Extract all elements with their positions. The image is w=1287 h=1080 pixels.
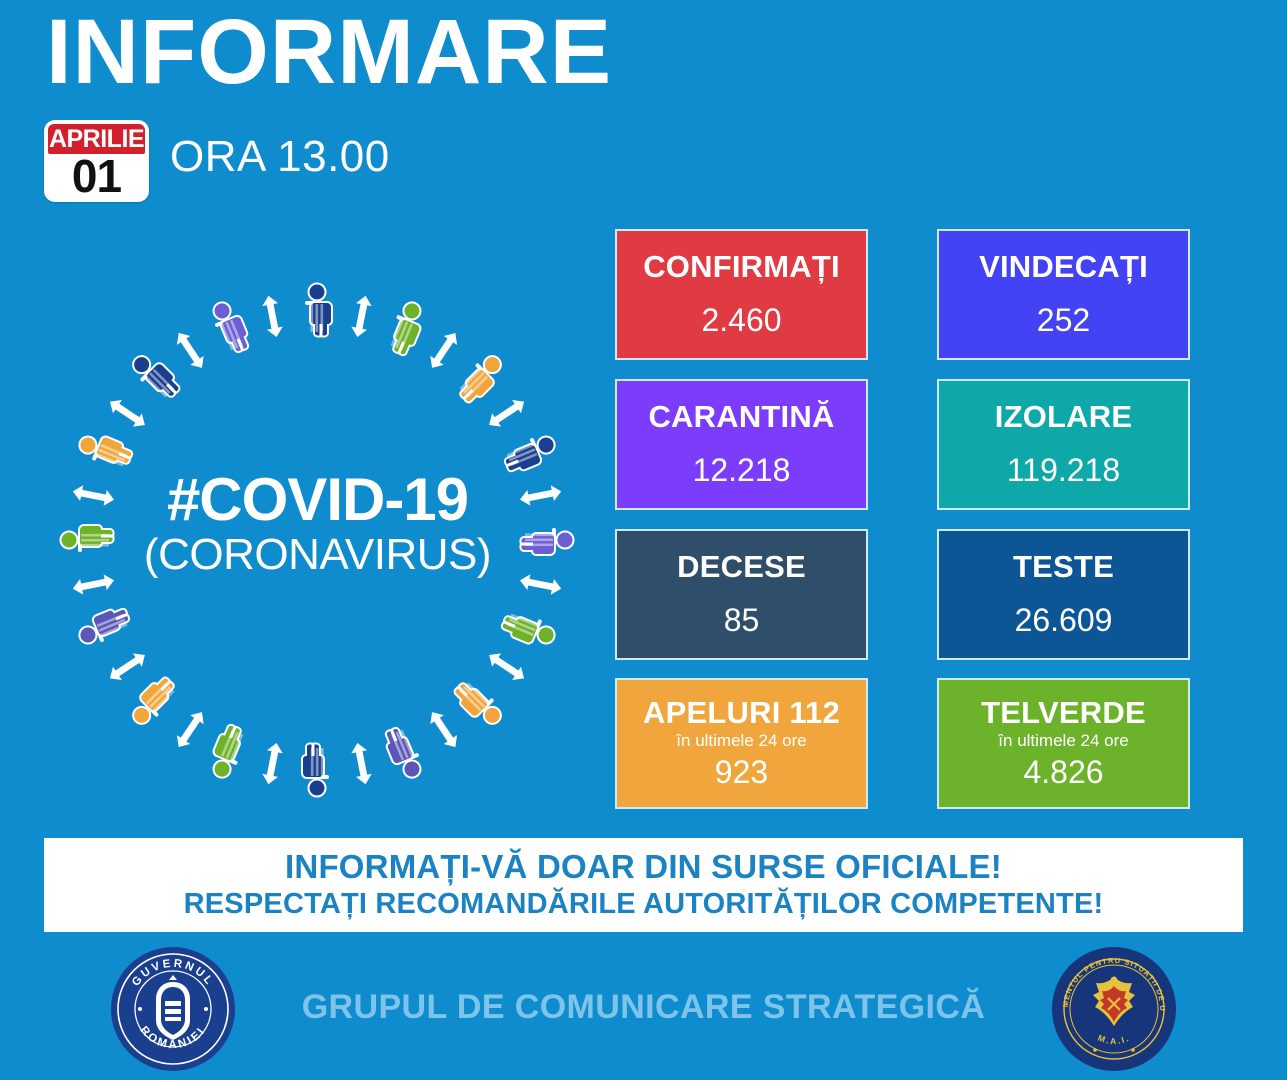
header: INFORMARE APRILIE 01 ORA 13.00 <box>0 0 1287 215</box>
stat-card-telverde: TELVERDEîn ultimele 24 ore4.826 <box>937 678 1190 809</box>
stat-value: 26.609 <box>1015 604 1113 638</box>
person-figure-icon <box>307 285 331 336</box>
stat-label: IZOLARE <box>995 401 1132 434</box>
person-figure-icon <box>452 678 505 731</box>
stats-grid: CONFIRMAȚI2.460VINDECAȚI252CARANTINĂ12.2… <box>615 229 1191 809</box>
stat-card-vindecati: VINDECAȚI252 <box>937 229 1190 360</box>
stat-label: CARANTINĂ <box>648 401 834 434</box>
stat-label: CONFIRMAȚI <box>643 251 840 284</box>
calendar-day-label: 01 <box>48 154 145 198</box>
distance-arrow-icon <box>172 708 209 752</box>
person-figure-icon <box>76 605 132 647</box>
stat-value: 923 <box>715 756 768 790</box>
stat-card-carantina: CARANTINĂ12.218 <box>615 379 868 510</box>
stat-value: 2.460 <box>701 304 781 338</box>
stat-sublabel: în ultimele 24 ore <box>998 732 1128 751</box>
person-figure-icon <box>77 429 133 471</box>
stat-label: VINDECAȚI <box>979 251 1148 284</box>
hour-label: ORA 13.00 <box>170 132 390 182</box>
stat-value: 4.826 <box>1023 756 1103 790</box>
person-figure-icon <box>126 675 179 728</box>
person-figure-icon <box>502 433 558 475</box>
stat-value: 12.218 <box>693 454 791 488</box>
stat-label: DECESE <box>677 551 806 584</box>
person-figure-icon <box>303 745 327 796</box>
stat-value: 85 <box>724 604 760 638</box>
person-figure-icon <box>129 349 182 402</box>
advisory-line-1: INFORMAȚI-VĂ DOAR DIN SURSE OFICIALE! <box>285 848 1002 887</box>
footer: GUVERNUL ROMÂNIEI GRUPUL DE COMUNICARE S… <box>0 936 1287 1080</box>
distance-arrow-icon <box>261 294 285 338</box>
coronavirus-label: (CORONAVIRUS) <box>45 533 590 577</box>
distance-arrow-icon <box>485 395 529 432</box>
stat-label: APELURI 112 <box>643 697 840 730</box>
calendar-icon: APRILIE 01 <box>44 120 149 202</box>
person-figure-icon <box>501 609 557 651</box>
person-figure-icon <box>382 725 424 781</box>
distance-arrow-icon <box>350 294 374 338</box>
distance-arrow-icon <box>172 328 209 372</box>
page-title: INFORMARE <box>46 6 612 98</box>
distance-arrow-icon <box>105 395 149 432</box>
person-figure-icon <box>455 352 508 405</box>
stat-card-apeluri-112: APELURI 112în ultimele 24 ore923 <box>615 678 868 809</box>
advisory-line-2: RESPECTAȚI RECOMANDĂRILE AUTORITĂȚILOR C… <box>184 887 1104 921</box>
stat-value: 119.218 <box>1007 454 1120 488</box>
stat-value: 252 <box>1037 304 1090 338</box>
stat-card-decese: DECESE85 <box>615 529 868 660</box>
stat-card-confirmati: CONFIRMAȚI2.460 <box>615 229 868 360</box>
person-figure-icon <box>206 724 248 780</box>
distance-arrow-icon <box>261 741 285 785</box>
stat-card-teste: TESTE26.609 <box>937 529 1190 660</box>
social-distancing-circle-icon: #COVID-19 (CORONAVIRUS) <box>45 255 590 825</box>
distance-arrow-icon <box>485 648 529 685</box>
stat-label: TELVERDE <box>981 697 1146 730</box>
stat-label: TESTE <box>1013 551 1114 584</box>
person-figure-icon <box>210 299 252 355</box>
distance-arrow-icon <box>425 328 462 372</box>
distance-arrow-icon <box>105 648 149 685</box>
person-figure-icon <box>386 300 428 356</box>
advisory-banner: INFORMAȚI-VĂ DOAR DIN SURSE OFICIALE! RE… <box>44 838 1243 932</box>
distance-arrow-icon <box>425 708 462 752</box>
dsu-mai-seal-icon: DEPARTAMENTUL PENTRU SITUAȚII DE URGENȚĂ… <box>1051 946 1177 1072</box>
stat-sublabel: în ultimele 24 ore <box>676 732 806 751</box>
covid-label: #COVID-19 <box>45 470 590 530</box>
stat-card-izolare: IZOLARE119.218 <box>937 379 1190 510</box>
distance-arrow-icon <box>350 741 374 785</box>
